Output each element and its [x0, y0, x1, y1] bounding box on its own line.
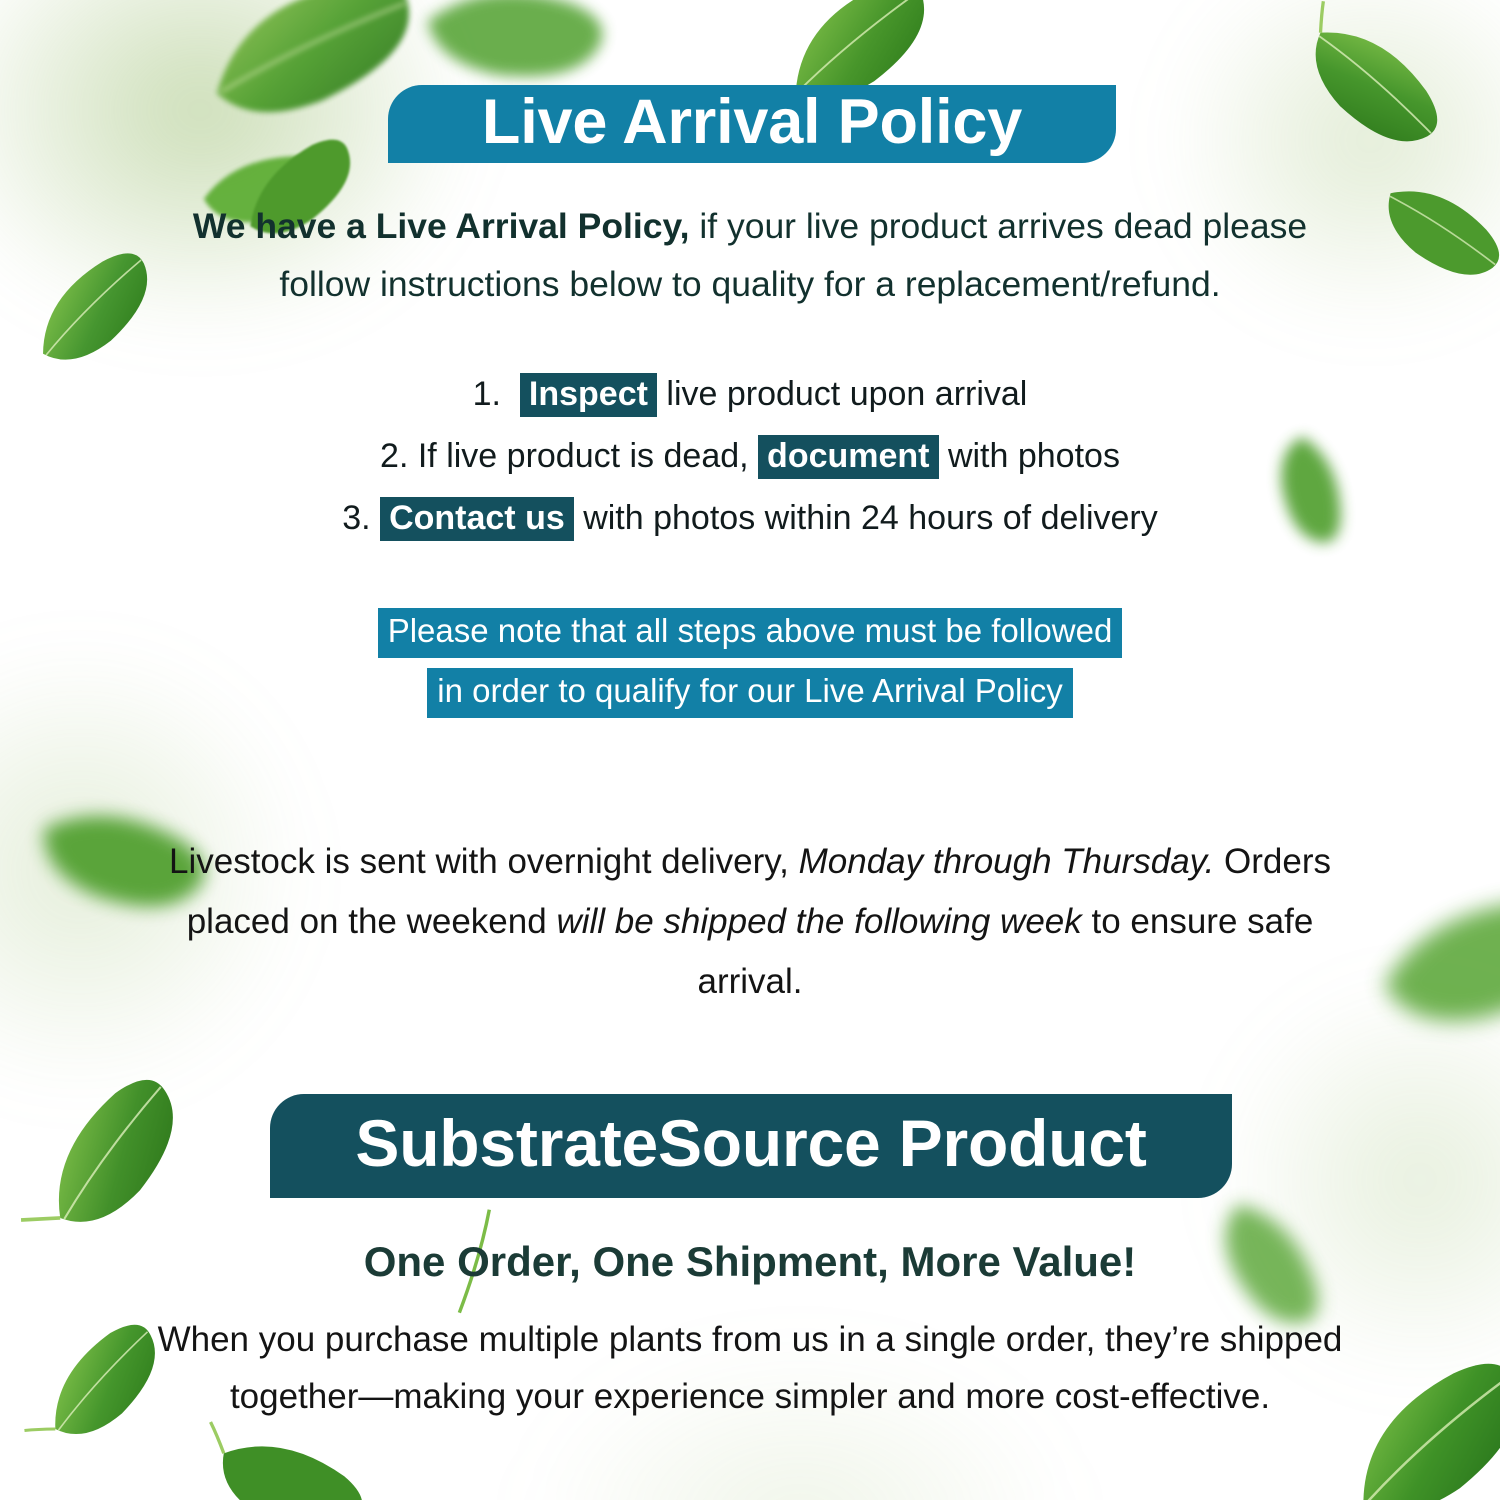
- step-number: 2.: [380, 437, 408, 475]
- step-after: with photos: [939, 437, 1120, 475]
- page-title: Live Arrival Policy: [482, 91, 1022, 154]
- livestock-italic-2: will be shipped the following week: [556, 902, 1081, 941]
- livestock-shipping-paragraph: Livestock is sent with overnight deliver…: [150, 832, 1350, 1013]
- step-before: [371, 499, 380, 537]
- live-arrival-policy-poster: Live Arrival Policy We have a Live Arriv…: [0, 0, 1500, 1500]
- step-chip-inspect[interactable]: Inspect: [520, 373, 657, 417]
- livestock-italic-1: Monday through Thursday.: [799, 842, 1215, 881]
- livestock-part-1: Livestock is sent with overnight deliver…: [169, 842, 799, 881]
- step-number: 3.: [342, 499, 370, 537]
- intro-bold-lead: We have a Live Arrival Policy,: [193, 206, 690, 246]
- substratesource-banner-title: SubstrateSource Product: [355, 1110, 1146, 1176]
- policy-note-row-1: Please note that all steps above must be…: [150, 608, 1350, 658]
- substratesource-product-banner: SubstrateSource Product: [270, 1094, 1232, 1198]
- step-after: live product upon arrival: [657, 375, 1027, 413]
- step-number: 1.: [473, 375, 501, 413]
- step-before: If live product is dead,: [408, 437, 758, 475]
- list-item: 1. Inspect live product upon arrival: [150, 364, 1350, 426]
- poster-content: Live Arrival Policy We have a Live Arriv…: [0, 0, 1500, 1500]
- list-item: 2. If live product is dead, document wit…: [150, 426, 1350, 488]
- live-arrival-policy-banner: Live Arrival Policy: [388, 85, 1116, 163]
- intro-paragraph: We have a Live Arrival Policy, if your l…: [150, 198, 1350, 313]
- step-chip-document[interactable]: document: [758, 435, 938, 479]
- policy-note-row-2: in order to qualify for our Live Arrival…: [150, 668, 1350, 718]
- policy-note-line-1: Please note that all steps above must be…: [378, 608, 1123, 658]
- list-item: 3. Contact us with photos within 24 hour…: [150, 488, 1350, 550]
- product-tagline: One Order, One Shipment, More Value!: [150, 1238, 1350, 1286]
- policy-note-line-2: in order to qualify for our Live Arrival…: [427, 668, 1072, 718]
- policy-note: Please note that all steps above must be…: [150, 608, 1350, 728]
- steps-list: 1. Inspect live product upon arrival 2. …: [150, 364, 1350, 550]
- step-chip-contact-us[interactable]: Contact us: [380, 497, 574, 541]
- step-after: with photos within 24 hours of delivery: [574, 499, 1158, 537]
- product-description: When you purchase multiple plants from u…: [150, 1312, 1350, 1425]
